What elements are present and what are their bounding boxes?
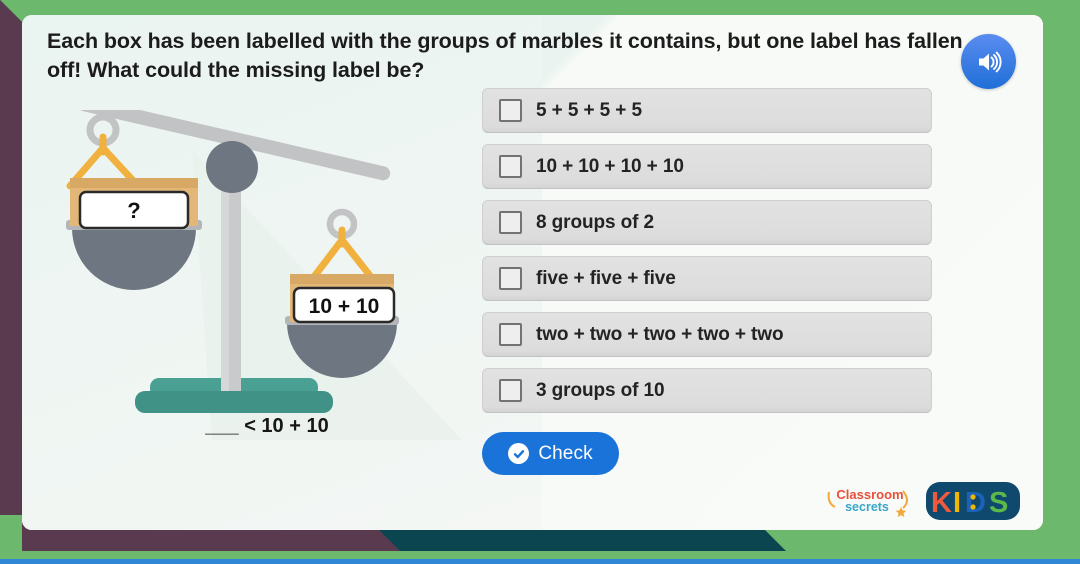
left-pan-bowl [72, 228, 196, 290]
activity-card: Each box has been labelled with the grou… [22, 15, 1043, 530]
option-checkbox[interactable] [499, 379, 522, 402]
branding-logos: Classroom secrets K I D S [825, 480, 1021, 522]
scale-caption: ___ < 10 + 10 [42, 415, 492, 438]
left-pan-label-text: ? [127, 198, 140, 223]
option-checkbox[interactable] [499, 267, 522, 290]
option-label: two + two + two + two + two [536, 324, 783, 346]
option-row[interactable]: five + five + five [482, 256, 932, 301]
kids-dot-top [970, 494, 975, 499]
right-pan-label-text: 10 + 10 [309, 295, 380, 318]
option-checkbox[interactable] [499, 211, 522, 234]
scale-base-bottom [135, 391, 333, 413]
right-box-label: 10 + 10 [294, 288, 394, 322]
option-label: 5 + 5 + 5 + 5 [536, 100, 642, 122]
option-checkbox[interactable] [499, 323, 522, 346]
left-box-top-shade [70, 178, 198, 188]
option-label: 3 groups of 10 [536, 380, 664, 402]
option-label: 8 groups of 2 [536, 212, 654, 234]
check-button-label: Check [538, 443, 592, 465]
check-circle-icon [508, 443, 529, 464]
question-text: Each box has been labelled with the grou… [47, 27, 977, 85]
option-row[interactable]: 8 groups of 2 [482, 200, 932, 245]
scale-pivot [206, 141, 258, 193]
kids-letter-s: S [989, 487, 1008, 519]
option-row[interactable]: two + two + two + two + two [482, 312, 932, 357]
classroom-secrets-logo: Classroom secrets [825, 483, 915, 519]
kids-letter-k: K [931, 487, 952, 519]
option-row[interactable]: 10 + 10 + 10 + 10 [482, 144, 932, 189]
answer-options-list: 5 + 5 + 5 + 5 10 + 10 + 10 + 10 8 groups… [482, 88, 932, 424]
option-label: 10 + 10 + 10 + 10 [536, 156, 684, 178]
kids-dot-bottom [970, 504, 975, 509]
frame-blue-strip [0, 559, 1080, 564]
kids-logo: K I D S [925, 480, 1021, 522]
scale-column-highlight [221, 176, 229, 391]
cs-logo-line2: secrets [845, 500, 889, 514]
screen-root: Each box has been labelled with the grou… [0, 0, 1080, 564]
option-row[interactable]: 5 + 5 + 5 + 5 [482, 88, 932, 133]
check-button[interactable]: Check [482, 432, 619, 475]
kids-letter-d: D [965, 487, 986, 519]
option-label: five + five + five [536, 268, 676, 290]
option-row[interactable]: 3 groups of 10 [482, 368, 932, 413]
option-checkbox[interactable] [499, 155, 522, 178]
speaker-icon [974, 47, 1004, 77]
right-box-top-shade [290, 274, 394, 284]
option-checkbox[interactable] [499, 99, 522, 122]
kids-letter-i: I [953, 487, 961, 519]
left-box-label: ? [80, 192, 188, 228]
audio-play-button[interactable] [961, 34, 1016, 89]
